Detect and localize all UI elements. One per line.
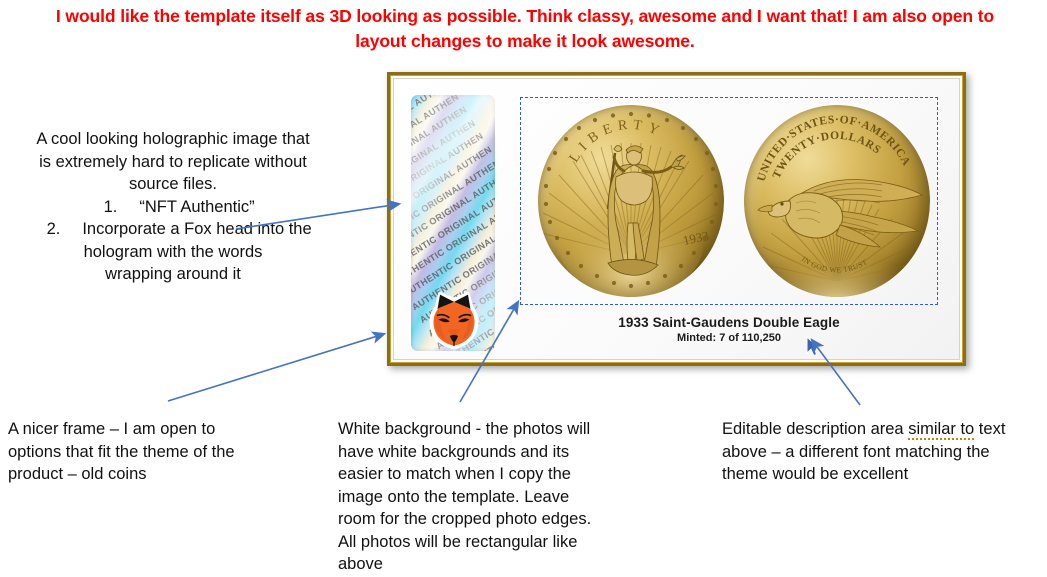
annotation-white-line-3: easier to match when I copy the [338, 463, 638, 486]
mouse-cursor-icon [806, 336, 822, 358]
annotation-frame-line-1: A nicer frame – I am open to [8, 418, 328, 441]
annotation-hologram-item-2-line-3: wrapping around it [8, 263, 338, 286]
annotation-white-line-4: image onto the template. Leave [338, 486, 638, 509]
annotation-hologram-line-3: source files. [8, 173, 338, 196]
svg-text:LIBERTY: LIBERTY [567, 118, 667, 166]
page-title: I would like the template itself as 3D l… [30, 4, 1020, 54]
annotation-white-line-7: above [338, 553, 638, 576]
annotation-white-background: White background - the photos will have … [338, 418, 638, 576]
title-line-1: I would like the template itself as 3D l… [56, 6, 888, 26]
annotation-frame-line-2: options that fit the theme of the [8, 441, 328, 464]
list-number-1: 1. [91, 196, 117, 219]
caption-subtitle: Minted: 7 of 110,250 [520, 332, 938, 344]
holographic-sticker[interactable]: AUTHENTIC ORIGINAL AUTHENTIC ORIGINAL AU… [411, 95, 495, 351]
product-frame-inner: AUTHENTIC ORIGINAL AUTHENTIC ORIGINAL AU… [393, 78, 960, 360]
fox-head-icon [423, 291, 485, 349]
list-number-2: 2. [34, 218, 60, 241]
arrow-frame [168, 334, 384, 401]
spellcheck-underlined-phrase: similar to [908, 420, 974, 440]
annotation-description: Editable description area similar to tex… [722, 418, 1022, 486]
annotation-white-line-2: have white backgrounds and its [338, 441, 638, 464]
annotation-frame: A nicer frame – I am open to options tha… [8, 418, 328, 486]
product-frame[interactable]: AUTHENTIC ORIGINAL AUTHENTIC ORIGINAL AU… [387, 72, 966, 366]
annotation-white-line-6: All photos will be rectangular like [338, 531, 638, 554]
annotation-white-line-5: room for the cropped photo edges. [338, 508, 638, 531]
coin-reverse-image[interactable]: UNITED·STATES·OF·AMERICA TWENTY·DOLLARS … [744, 105, 930, 297]
list-text-2: Incorporate a Fox head into the [82, 220, 311, 238]
annotation-hologram-line-2: is extremely hard to replicate without [8, 151, 338, 174]
product-caption[interactable]: 1933 Saint-Gaudens Double Eagle Minted: … [520, 315, 938, 344]
annotation-hologram-item-2-line-2: hologram with the words [8, 241, 338, 264]
annotation-hologram-item-1: 1.“NFT Authentic” [8, 196, 338, 219]
annotation-hologram: A cool looking holographic image that is… [8, 128, 338, 286]
annotation-frame-line-3: product – old coins [8, 463, 328, 486]
annotation-white-line-1: White background - the photos will [338, 418, 638, 441]
slide-canvas: I would like the template itself as 3D l… [0, 0, 1047, 577]
coin-obverse-detail: LIBERTY [538, 105, 724, 297]
annotation-description-part-1: Editable description area [722, 420, 908, 438]
annotation-hologram-line-1: A cool looking holographic image that [8, 128, 338, 151]
list-text-1: “NFT Authentic” [139, 198, 254, 216]
coin-obverse-image[interactable]: LIBERTY [538, 105, 724, 297]
coin-reverse-detail: UNITED·STATES·OF·AMERICA TWENTY·DOLLARS … [744, 105, 930, 297]
caption-title: 1933 Saint-Gaudens Double Eagle [520, 315, 938, 330]
annotation-hologram-item-2: 2.Incorporate a Fox head into the [8, 218, 338, 241]
